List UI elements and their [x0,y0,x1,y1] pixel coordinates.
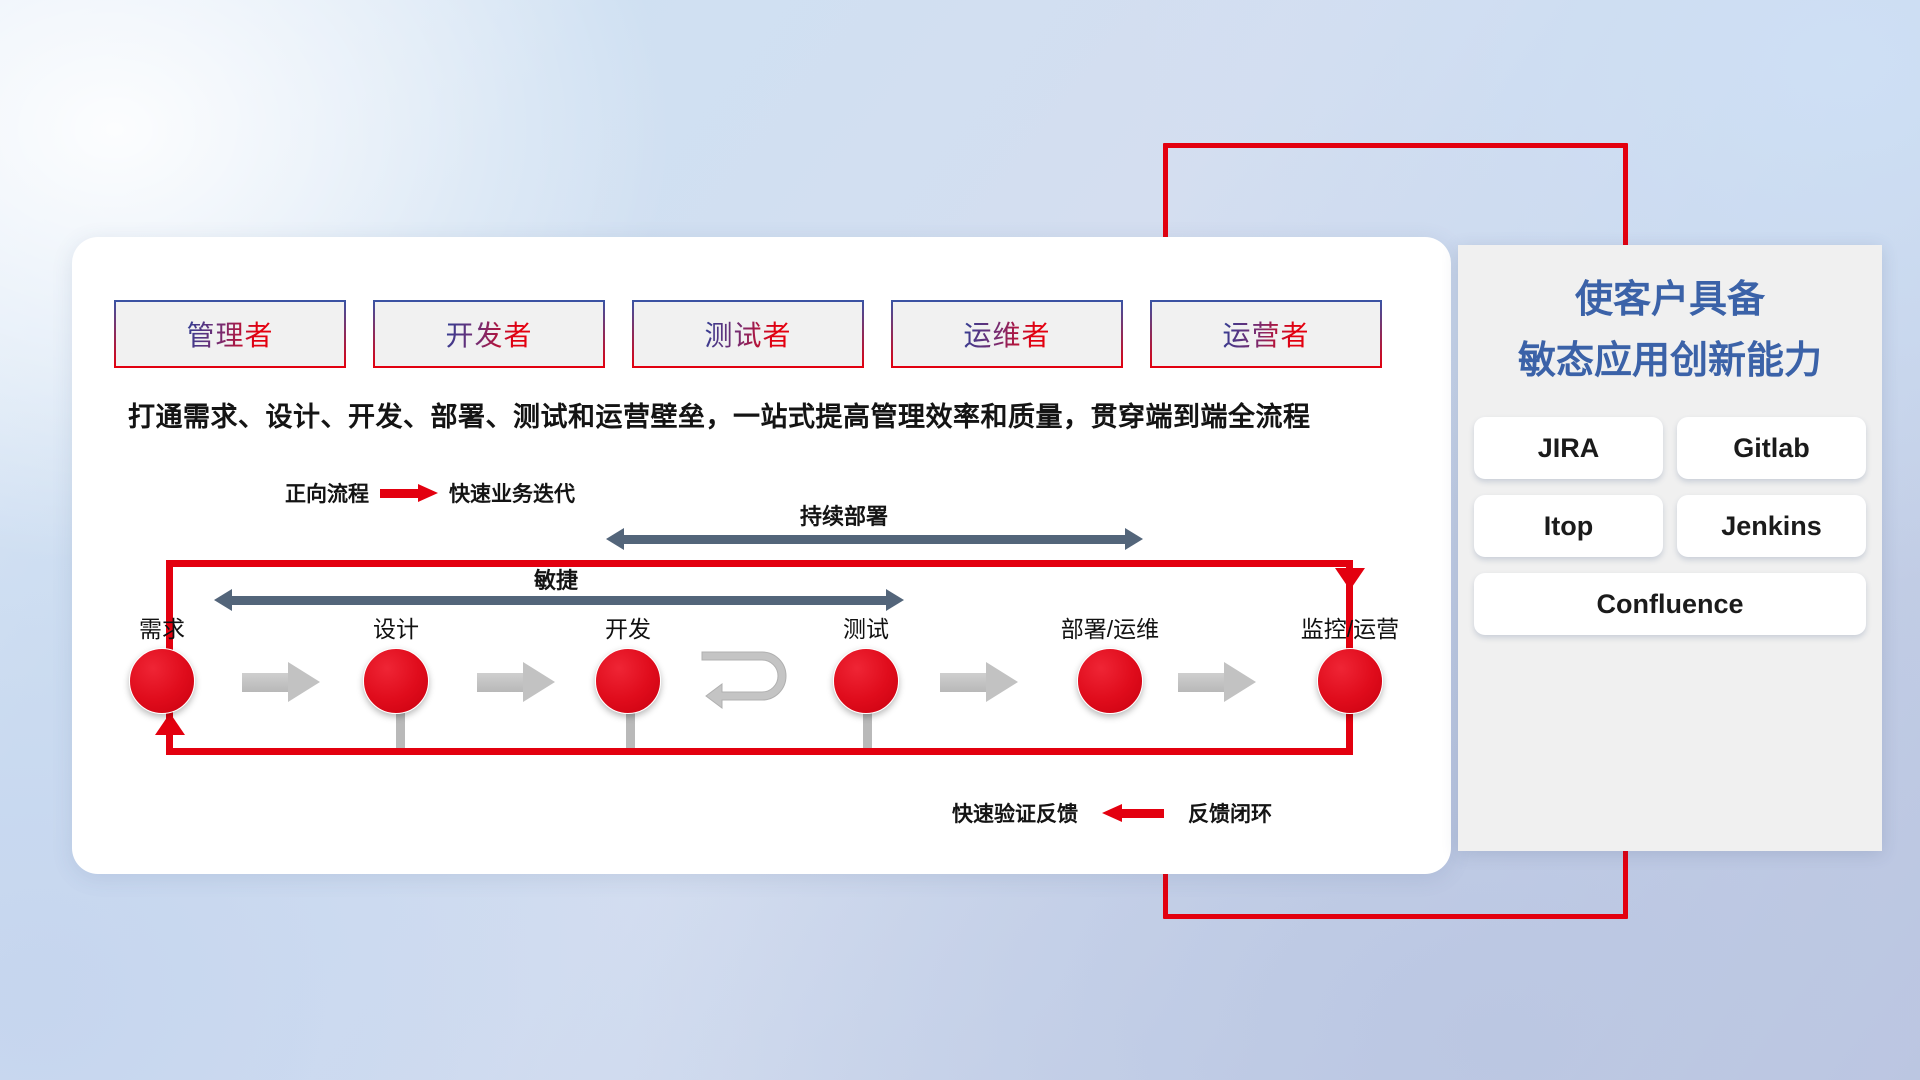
feedback-loop-arrow-down-icon [1335,568,1365,590]
feedback-loop-bottom-line [166,748,1353,755]
arrow-left-red-icon [1102,804,1164,822]
flow-arrow-gray-icon [1178,662,1256,702]
legend-feedback-result: 反馈闭环 [1188,798,1272,828]
stage-label: 设计 [316,610,476,644]
role-label: 管理者 [186,314,273,354]
feedback-loop-top-line [166,560,1353,567]
stage-label: 需求 [82,610,242,644]
roles-row: 管理者 开发者 测试者 运维者 运营者 [114,300,1382,368]
tagline-text: 打通需求、设计、开发、部署、测试和运营壁垒，一站式提高管理效率和质量，贯穿端到端… [128,395,1311,434]
role-label: 开发者 [445,314,532,354]
pipeline-stage-monitor-operations[interactable]: 监控/运营 [1270,610,1430,714]
legend-forward-label: 正向流程 [285,478,369,508]
tools-grid: JIRA Gitlab Itop Jenkins Confluence [1474,417,1866,635]
arrow-head-right-icon [1125,528,1143,550]
role-box-manager[interactable]: 管理者 [114,300,346,368]
tool-chip-confluence[interactable]: Confluence [1474,573,1866,635]
arrow-right-red-icon [380,484,438,502]
stage-label: 测试 [786,610,946,644]
arrow-head-right-icon [886,589,904,611]
legend-feedback-label: 快速验证反馈 [952,798,1078,828]
role-box-developer[interactable]: 开发者 [373,300,605,368]
stage-label: 开发 [548,610,708,644]
loop-back-arrow-icon [700,650,796,716]
slide-canvas: 管理者 开发者 测试者 运维者 运营者 打通需求、设计、开发、部署、测试和运营壁… [0,0,1920,1080]
stage-dot-icon [595,648,661,714]
stage-label: 监控/运营 [1270,610,1430,644]
right-panel-title: 使客户具备 敏态应用创新能力 [1458,273,1882,389]
span-label-continuous-deployment: 持续部署 [800,499,888,531]
double-arrow-continuous-deployment-icon [606,528,1143,550]
pipeline-stage-requirement[interactable]: 需求 [82,610,242,714]
stage-dot-icon [1077,648,1143,714]
pipeline-stage-development[interactable]: 开发 [548,610,708,714]
arrow-bar [230,596,888,605]
flow-arrow-gray-icon [477,662,555,702]
flow-arrow-gray-icon [940,662,1018,702]
flow-arrow-gray-icon [242,662,320,702]
legend-feedback-loop: 快速验证反馈 反馈闭环 [952,798,1272,828]
stage-dot-icon [833,648,899,714]
pipeline-stage-design[interactable]: 设计 [316,610,476,714]
right-panel-title-line2: 敏态应用创新能力 [1458,334,1882,389]
pipeline-stage-deploy-ops[interactable]: 部署/运维 [1030,610,1190,714]
tool-chip-itop[interactable]: Itop [1474,495,1663,557]
role-box-operations[interactable]: 运营者 [1150,300,1382,368]
stage-dot-icon [1317,648,1383,714]
tool-chip-gitlab[interactable]: Gitlab [1677,417,1866,479]
stage-label: 部署/运维 [1030,610,1190,644]
role-box-ops[interactable]: 运维者 [891,300,1123,368]
stage-dot-icon [129,648,195,714]
tool-chip-jira[interactable]: JIRA [1474,417,1663,479]
legend-forward-result: 快速业务迭代 [449,478,575,508]
role-label: 运维者 [963,314,1050,354]
arrow-bar [622,535,1127,544]
role-label: 测试者 [704,314,791,354]
tool-chip-jenkins[interactable]: Jenkins [1677,495,1866,557]
right-panel: 使客户具备 敏态应用创新能力 JIRA Gitlab Itop Jenkins … [1458,245,1882,851]
role-box-tester[interactable]: 测试者 [632,300,864,368]
pipeline-stage-testing[interactable]: 测试 [786,610,946,714]
right-panel-title-line1: 使客户具备 [1458,273,1882,328]
double-arrow-agile-icon [214,589,904,611]
legend-forward-flow: 正向流程 快速业务迭代 [285,478,575,508]
stage-dot-icon [363,648,429,714]
role-label: 运营者 [1222,314,1309,354]
